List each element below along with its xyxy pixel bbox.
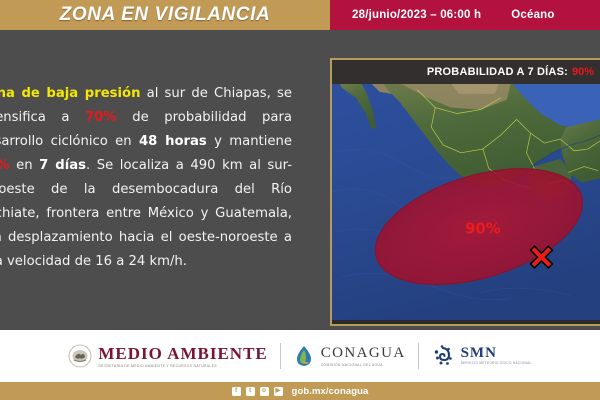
satellite-map[interactable]: 90% bbox=[332, 84, 600, 320]
page-title: ZONA EN VIGILANCIA bbox=[60, 4, 271, 26]
mexican-eagle-emblem bbox=[68, 344, 92, 368]
logo-smn: SMN SERVICIO METEOROLÓGICO NACIONAL bbox=[419, 344, 544, 368]
logo-medio-ambiente-name: MEDIO AMBIENTE bbox=[98, 345, 267, 362]
map-caption-value: 90% bbox=[572, 66, 594, 78]
bulletin-text-4: en bbox=[10, 158, 40, 173]
footer-website-url[interactable]: gob.mx/conagua bbox=[292, 386, 369, 397]
smn-spiral-icon bbox=[431, 344, 455, 368]
header-bar: ZONA EN VIGILANCIA 28/junio/2023 – 06:00… bbox=[0, 0, 600, 30]
footer-logo-bar: MEDIO AMBIENTE SECRETARÍA DE MEDIO AMBIE… bbox=[0, 330, 600, 382]
twitter-icon[interactable]: t bbox=[246, 387, 255, 396]
map-caption-bar: PROBABILIDAD A 7 DÍAS: 90% bbox=[332, 60, 600, 84]
window-7d: 7 días bbox=[39, 158, 86, 173]
map-graphic: 90% bbox=[332, 84, 600, 320]
conagua-water-icon bbox=[293, 344, 315, 368]
facebook-icon[interactable]: f bbox=[232, 387, 241, 396]
bulletin-text-5: . Se localiza a 490 km al sur-suroeste d… bbox=[0, 158, 292, 269]
logo-smn-name: SMN bbox=[461, 346, 532, 361]
logo-medio-ambiente-sub: SECRETARÍA DE MEDIO AMBIENTE Y RECURSOS … bbox=[98, 364, 267, 368]
probability-48h: 70% bbox=[85, 110, 117, 125]
bulletin-datetime: 28/junio/2023 – 06:00 h bbox=[352, 9, 481, 21]
logo-conagua: CONAGUA COMISIÓN NACIONAL DEL AGUA bbox=[281, 344, 418, 368]
bulletin-text: Zona de baja presión al sur de Chiapas, … bbox=[0, 82, 308, 274]
logo-medio-ambiente: MEDIO AMBIENTE SECRETARÍA DE MEDIO AMBIE… bbox=[56, 344, 279, 368]
logo-conagua-sub: COMISIÓN NACIONAL DEL AGUA bbox=[321, 363, 406, 367]
youtube-icon[interactable]: ▶ bbox=[274, 387, 283, 396]
header-title-banner: ZONA EN VIGILANCIA bbox=[0, 0, 330, 30]
probability-7d: 90% bbox=[0, 158, 10, 173]
instagram-icon[interactable]: o bbox=[260, 387, 269, 396]
logo-smn-sub: SERVICIO METEOROLÓGICO NACIONAL bbox=[461, 361, 532, 366]
window-48h: 48 horas bbox=[139, 134, 207, 149]
footer-social-bar: f t o ▶ gob.mx/conagua bbox=[0, 382, 600, 400]
logo-conagua-name: CONAGUA bbox=[321, 346, 406, 361]
ellipse-probability-label: 90% bbox=[465, 221, 501, 238]
plateau-region bbox=[451, 84, 499, 94]
map-caption-label: PROBABILIDAD A 7 DÍAS: bbox=[427, 66, 568, 78]
bulletin-text-3: y mantiene bbox=[207, 134, 292, 149]
bulletin-basin: Océano bbox=[511, 9, 554, 21]
forecast-map-panel: PROBABILIDAD A 7 DÍAS: 90% bbox=[330, 58, 600, 326]
content-area: Zona de baja presión al sur de Chiapas, … bbox=[0, 30, 600, 330]
bulletin-lead-highlight: Zona de baja presión bbox=[0, 86, 140, 101]
header-info-banner: 28/junio/2023 – 06:00 h Océano bbox=[330, 0, 600, 30]
